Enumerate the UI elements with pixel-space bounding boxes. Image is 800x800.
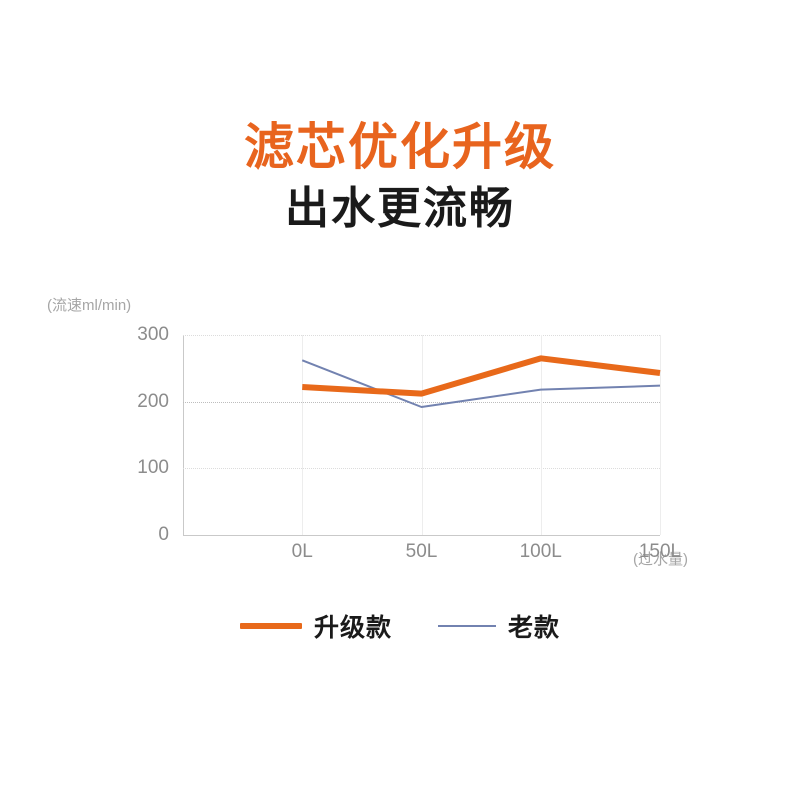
x-tick-label: 0L bbox=[292, 541, 313, 563]
y-axis-title: (流速ml/min) bbox=[47, 294, 131, 315]
series-lines bbox=[183, 335, 660, 535]
x-axis-line bbox=[183, 535, 660, 536]
y-tick-label: 300 bbox=[137, 324, 169, 346]
x-tick-label: 50L bbox=[406, 541, 438, 563]
flow-rate-line-chart: (流速ml/min) (过水量) 0100200300 0L50L100L150… bbox=[0, 0, 800, 800]
legend-item-upgraded[interactable]: 升级款 bbox=[240, 608, 392, 644]
x-tick-label: 150L bbox=[639, 541, 681, 563]
chart-legend: 升级款 老款 bbox=[0, 608, 800, 644]
y-tick-label: 0 bbox=[158, 524, 169, 546]
gridline-x-150L bbox=[660, 335, 661, 535]
legend-item-old[interactable]: 老款 bbox=[438, 608, 560, 644]
legend-line-swatch-icon bbox=[438, 625, 496, 627]
legend-label-old: 老款 bbox=[508, 608, 560, 644]
legend-line-swatch-icon bbox=[240, 623, 302, 629]
y-tick-label: 100 bbox=[137, 457, 169, 479]
y-tick-label: 200 bbox=[137, 391, 169, 413]
plot-area: 0100200300 0L50L100L150L bbox=[183, 335, 660, 535]
x-tick-label: 100L bbox=[520, 541, 562, 563]
legend-label-upgraded: 升级款 bbox=[314, 608, 392, 644]
